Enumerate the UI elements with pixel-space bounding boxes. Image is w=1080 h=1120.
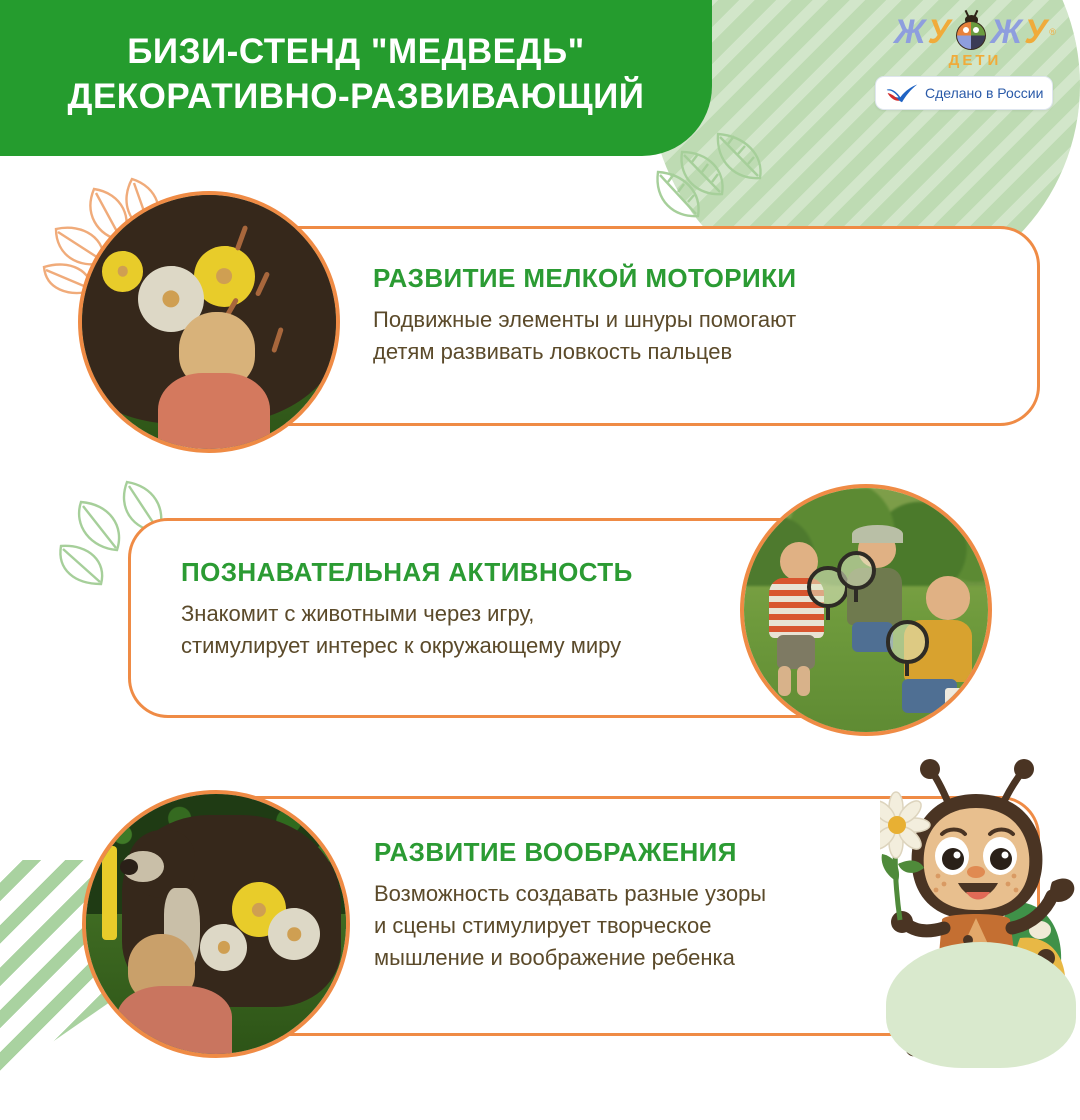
photo-scene <box>744 488 988 732</box>
ladybug-icon <box>954 14 988 50</box>
photo-scene <box>82 195 336 449</box>
ladybug-spot <box>973 27 979 33</box>
gear-yellow <box>102 251 143 292</box>
card-photo-imagination-development <box>82 790 350 1058</box>
magnifying-glass-icon <box>837 551 876 590</box>
brand-letter-zh-1: Ж <box>894 15 926 49</box>
brand-letter-u-2: У <box>1024 15 1047 49</box>
title-line-2: ДЕКОРАТИВНО-РАЗВИВАЮЩИЙ <box>68 77 645 116</box>
antenna-tip-right <box>1014 759 1034 779</box>
card-body-line-1: Возможность создавать разные узоры <box>374 881 766 906</box>
card-text-block: РАЗВИТИЕ МЕЛКОЙ МОТОРИКИ Подвижные элеме… <box>373 263 973 368</box>
card-body-line-2: стимулирует интерес к окружающему миру <box>181 633 621 658</box>
card-body-line-3: мышление и воображение ребенка <box>374 945 735 970</box>
made-in-russia-label: Сделано в России <box>925 85 1043 101</box>
gear-cream <box>200 924 247 971</box>
photo-scene <box>86 794 346 1054</box>
brand-wordmark: Ж У Ж У ® <box>880 6 1070 58</box>
ladybug-spot <box>963 27 969 33</box>
child-body <box>117 986 231 1058</box>
card-text-block: ПОЗНАВАТЕЛЬНАЯ АКТИВНОСТЬ Знакомит с жив… <box>181 557 801 662</box>
antenna-tip-left <box>920 759 940 779</box>
ladybug-mascot <box>880 752 1080 1072</box>
card-body: Знакомит с животными через игру, стимули… <box>181 598 801 662</box>
card-photo-cognitive-activity <box>740 484 992 736</box>
mascot-shadow <box>886 942 1076 1068</box>
mascot-nose <box>967 866 985 878</box>
card-body-line-2: детям развивать ловкость пальцев <box>373 339 732 364</box>
header-banner: БИЗИ-СТЕНД "МЕДВЕДЬ" ДЕКОРАТИВНО-РАЗВИВА… <box>0 0 712 156</box>
brand-letter-u-1: У <box>928 15 951 49</box>
card-body-line-1: Знакомит с животными через игру, <box>181 601 534 626</box>
bear-nose <box>120 859 138 875</box>
card-heading: РАЗВИТИЕ МЕЛКОЙ МОТОРИКИ <box>373 263 973 294</box>
magnifying-glass-icon <box>886 620 930 664</box>
card-body-line-2: и сцены стимулирует творческое <box>374 913 711 938</box>
mascot-hand-left <box>891 911 913 933</box>
child-body <box>158 373 270 453</box>
card-body: Подвижные элементы и шнуры помогают детя… <box>373 304 973 368</box>
card-photo-fine-motor-skills <box>78 191 340 453</box>
card-body-line-1: Подвижные элементы и шнуры помогают <box>373 307 796 332</box>
infographic-canvas: БИЗИ-СТЕНД "МЕДВЕДЬ" ДЕКОРАТИВНО-РАЗВИВА… <box>0 0 1080 1080</box>
registered-trademark-icon: ® <box>1049 27 1056 37</box>
brand-logo[interactable]: Ж У Ж У ® ДЕТИ Сделано в России <box>880 6 1070 114</box>
ladybug-body <box>956 21 986 50</box>
gear-cream <box>268 908 320 960</box>
yellow-post <box>102 846 118 940</box>
mascot-hand-right <box>1050 879 1074 902</box>
russian-flag-check-icon <box>885 82 919 104</box>
title-line-1: БИЗИ-СТЕНД "МЕДВЕДЬ" <box>127 32 584 71</box>
brand-letter-zh-2: Ж <box>991 15 1023 49</box>
card-heading: ПОЗНАВАТЕЛЬНАЯ АКТИВНОСТЬ <box>181 557 801 588</box>
made-in-russia-badge[interactable]: Сделано в России <box>875 76 1053 110</box>
page-title: БИЗИ-СТЕНД "МЕДВЕДЬ" ДЕКОРАТИВНО-РАЗВИВА… <box>68 30 645 120</box>
